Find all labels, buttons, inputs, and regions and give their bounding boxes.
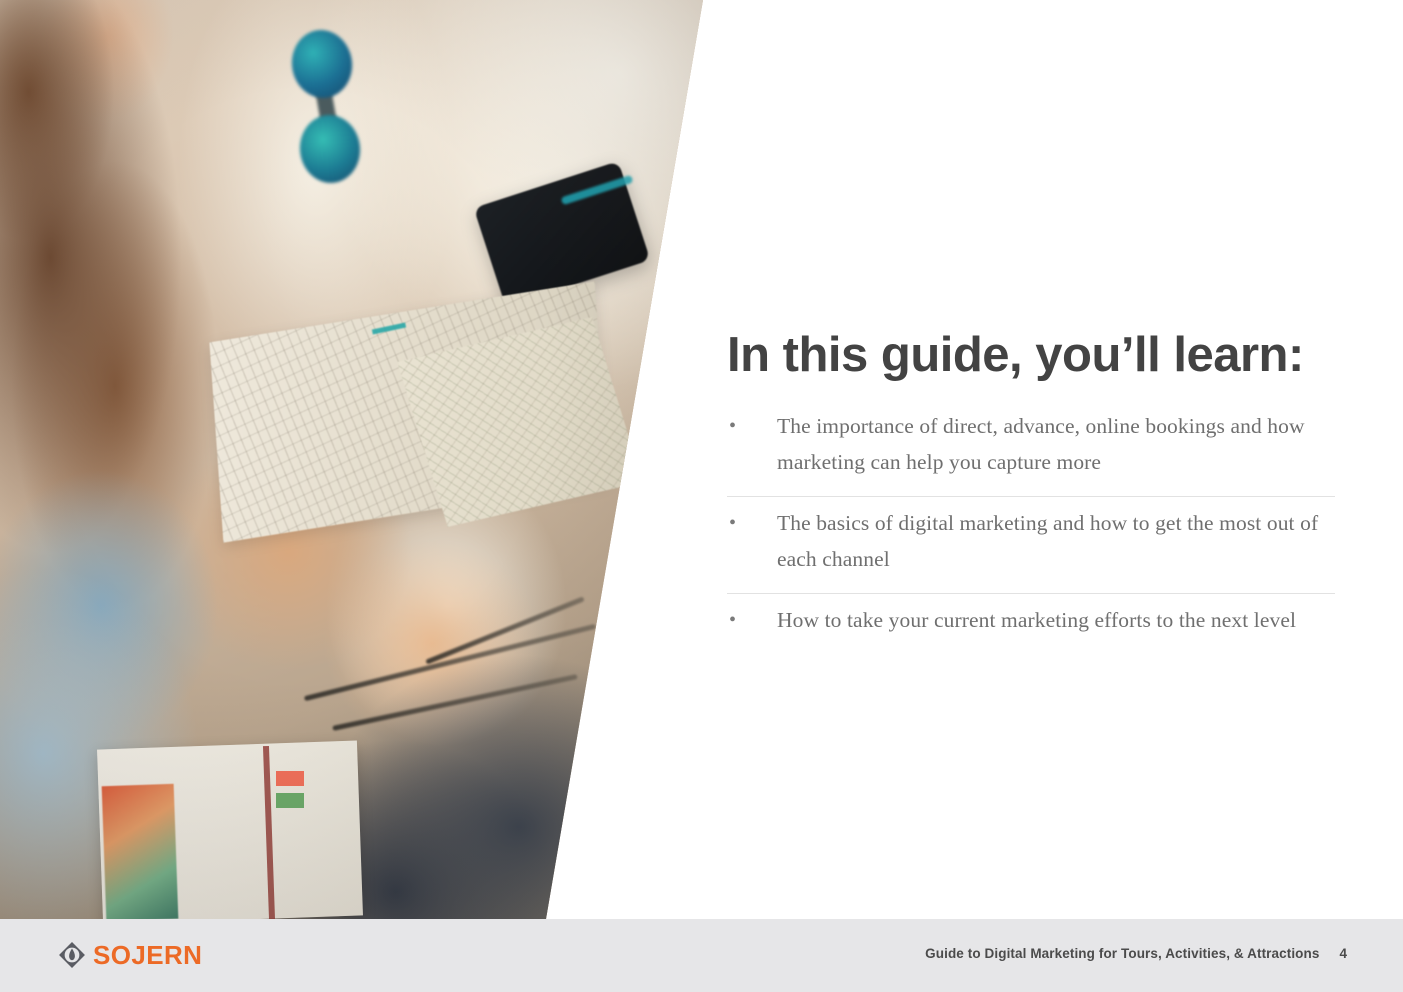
- guidebook-red-sticker-tab: [276, 771, 304, 786]
- slide: In this guide, you’ll learn: • The impor…: [0, 0, 1403, 992]
- bullet-marker-icon: •: [727, 505, 777, 541]
- footer-meta: Guide to Digital Marketing for Tours, Ac…: [925, 946, 1347, 961]
- guidebook-green-sticker-tab: [276, 793, 304, 808]
- bullet-marker-icon: •: [727, 602, 777, 638]
- hero-photo-panel: [0, 0, 720, 919]
- page-number: 4: [1339, 946, 1347, 961]
- list-item: • How to take your current marketing eff…: [727, 594, 1335, 654]
- guidebook-cover-photo: [102, 784, 179, 919]
- sojern-compass-icon: [58, 941, 86, 969]
- bullet-marker-icon: •: [727, 408, 777, 444]
- content-column: In this guide, you’ll learn: • The impor…: [727, 0, 1347, 919]
- sojern-wordmark: SOJERN: [93, 942, 202, 968]
- list-item-text: How to take your current marketing effor…: [777, 602, 1335, 638]
- learning-objectives-list: • The importance of direct, advance, onl…: [727, 400, 1335, 654]
- sojern-logo: SOJERN: [58, 941, 202, 969]
- list-item: • The basics of digital marketing and ho…: [727, 497, 1335, 594]
- list-item-text: The importance of direct, advance, onlin…: [777, 408, 1335, 480]
- document-title: Guide to Digital Marketing for Tours, Ac…: [925, 946, 1319, 961]
- list-item-text: The basics of digital marketing and how …: [777, 505, 1335, 577]
- list-item: • The importance of direct, advance, onl…: [727, 400, 1335, 497]
- page-title: In this guide, you’ll learn:: [727, 329, 1347, 383]
- footer-bar: SOJERN Guide to Digital Marketing for To…: [0, 919, 1403, 992]
